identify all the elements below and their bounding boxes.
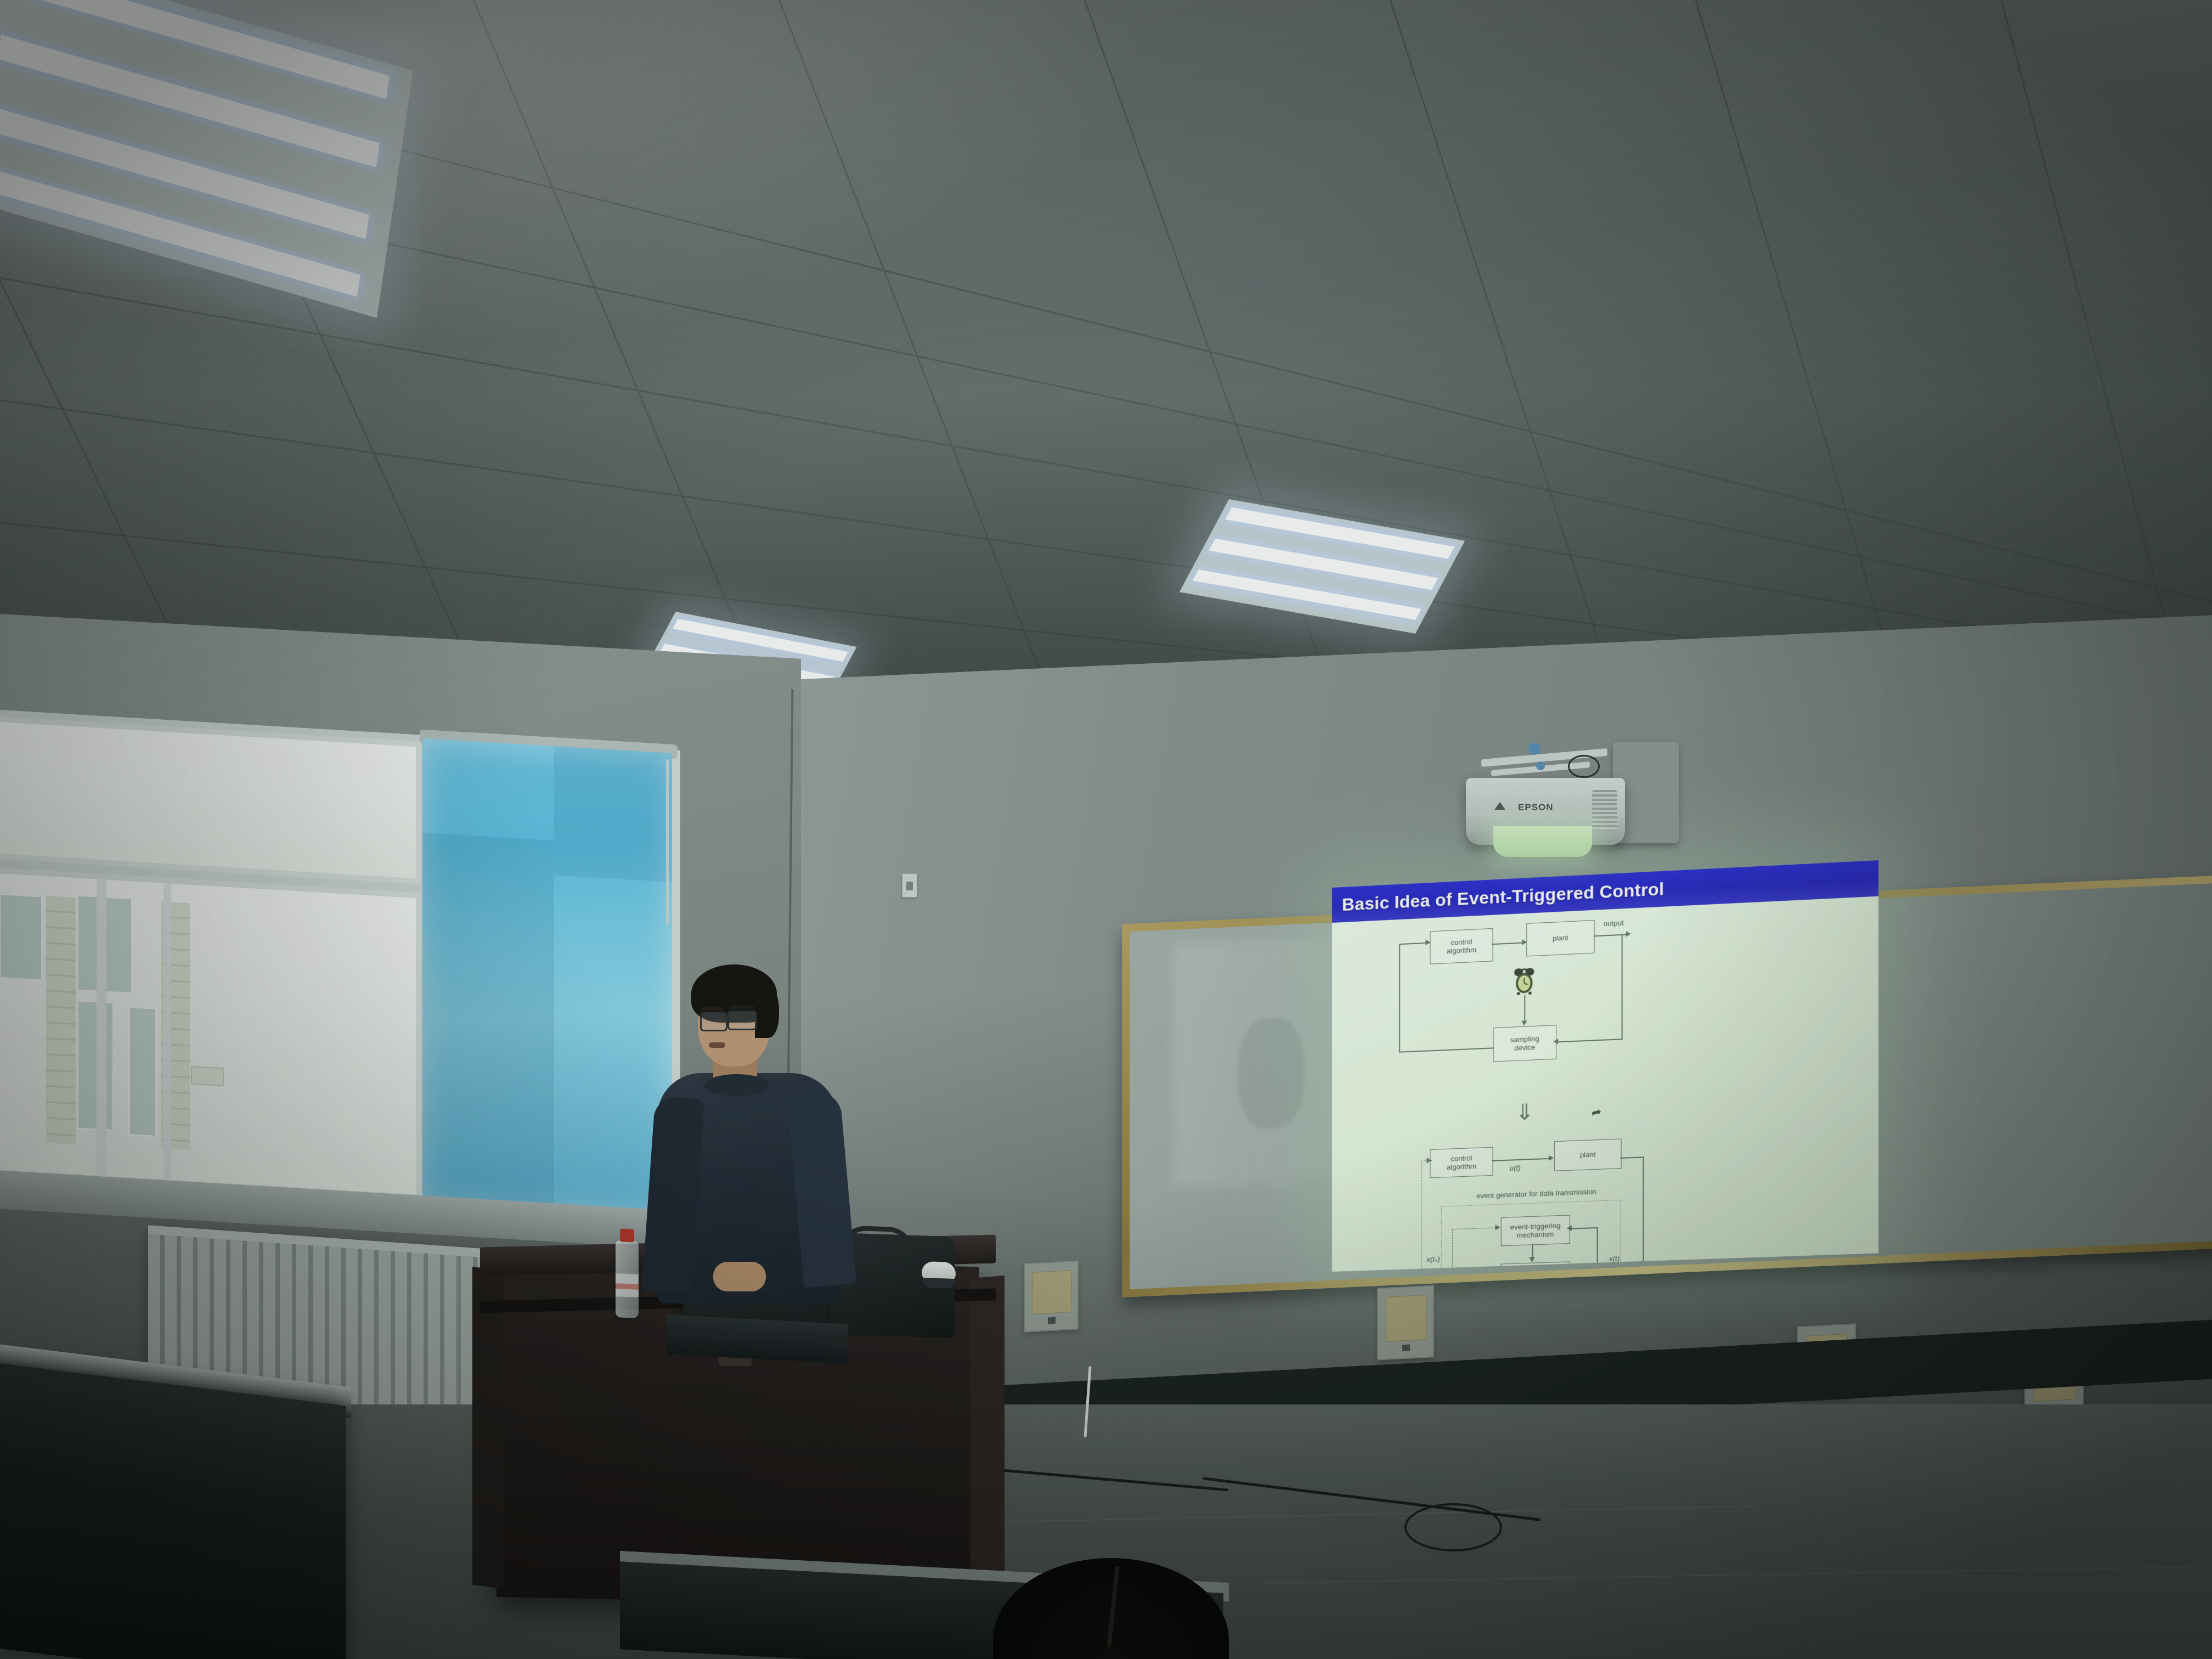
signal-label-output: output: [1604, 918, 1624, 928]
glasses-icon: [727, 1011, 757, 1030]
projector-lens: [1493, 826, 1592, 857]
block-label: mechanism: [1517, 1230, 1554, 1240]
block-label: plant: [1553, 934, 1568, 943]
wall-access-panel[interactable]: [1377, 1285, 1434, 1360]
projector-brand-label: EPSON: [1518, 802, 1554, 813]
block-label: plant: [1580, 1150, 1596, 1160]
lecture-room-photo: Basic Idea of Event-Triggered Control co…: [0, 0, 2212, 1659]
window-blind[interactable]: [422, 738, 672, 1217]
top-block-control-algorithm: control algorithm: [1430, 928, 1493, 964]
projection-screen: Basic Idea of Event-Triggered Control co…: [1332, 860, 1878, 1272]
transition-arrow-icon: ⇓: [1515, 1101, 1534, 1124]
top-block-plant: plant: [1526, 920, 1594, 956]
water-bottle: [616, 1240, 639, 1318]
bottom-block-plant: plant: [1554, 1138, 1621, 1171]
signal-label-x-t: x(t): [1609, 1254, 1620, 1263]
window-transom: [0, 716, 421, 884]
glasses-icon: [700, 1012, 727, 1031]
bottle-cap: [620, 1229, 634, 1243]
projector-cable: [1568, 755, 1600, 778]
exterior-building-edge: [191, 1066, 224, 1087]
projector-mount: [1481, 742, 1618, 780]
block-label: control: [1451, 1154, 1472, 1163]
wall-access-panel[interactable]: [1024, 1260, 1079, 1332]
block-label: device: [1514, 1043, 1535, 1052]
mouse-device-base: [923, 1278, 955, 1289]
wall-switch-icon: [902, 873, 917, 898]
projector-logo-icon: [1494, 802, 1505, 810]
bottom-block-event-triggering-mechanism: event-triggering mechanism: [1501, 1215, 1570, 1246]
blind-chain[interactable]: [666, 759, 669, 924]
floor-cable-coil: [1404, 1503, 1502, 1551]
mouse-cursor-icon: ➦: [1590, 1104, 1603, 1121]
signal-label-x-tk: x(tₖ): [1426, 1255, 1440, 1264]
foreground-desk: [0, 1359, 346, 1659]
window-glazing: [0, 867, 421, 1200]
event-generator-caption: event generator for data transmission: [1476, 1187, 1596, 1200]
exterior-building-wall: [46, 896, 76, 1144]
mount-knob-icon: [1536, 761, 1545, 770]
mount-knob-icon: [1528, 743, 1541, 755]
presenter: [647, 955, 845, 1306]
top-block-sampling-device: sampling device: [1493, 1025, 1557, 1062]
block-label: algorithm: [1447, 1162, 1476, 1171]
slide: Basic Idea of Event-Triggered Control co…: [1332, 860, 1878, 1272]
window: [0, 709, 680, 1233]
exterior-window: [128, 1006, 157, 1137]
signal-label-u-t: u(t): [1510, 1164, 1521, 1172]
bottom-block-control-algorithm: control algorithm: [1430, 1147, 1493, 1178]
slide-body: control algorithm plant sampling device …: [1332, 896, 1878, 1272]
projector-vent: [1592, 790, 1617, 831]
alarm-clock-icon: [1512, 966, 1537, 996]
exterior-window: [0, 893, 43, 981]
block-label: algorithm: [1447, 946, 1476, 956]
exterior-window: [77, 1000, 114, 1131]
